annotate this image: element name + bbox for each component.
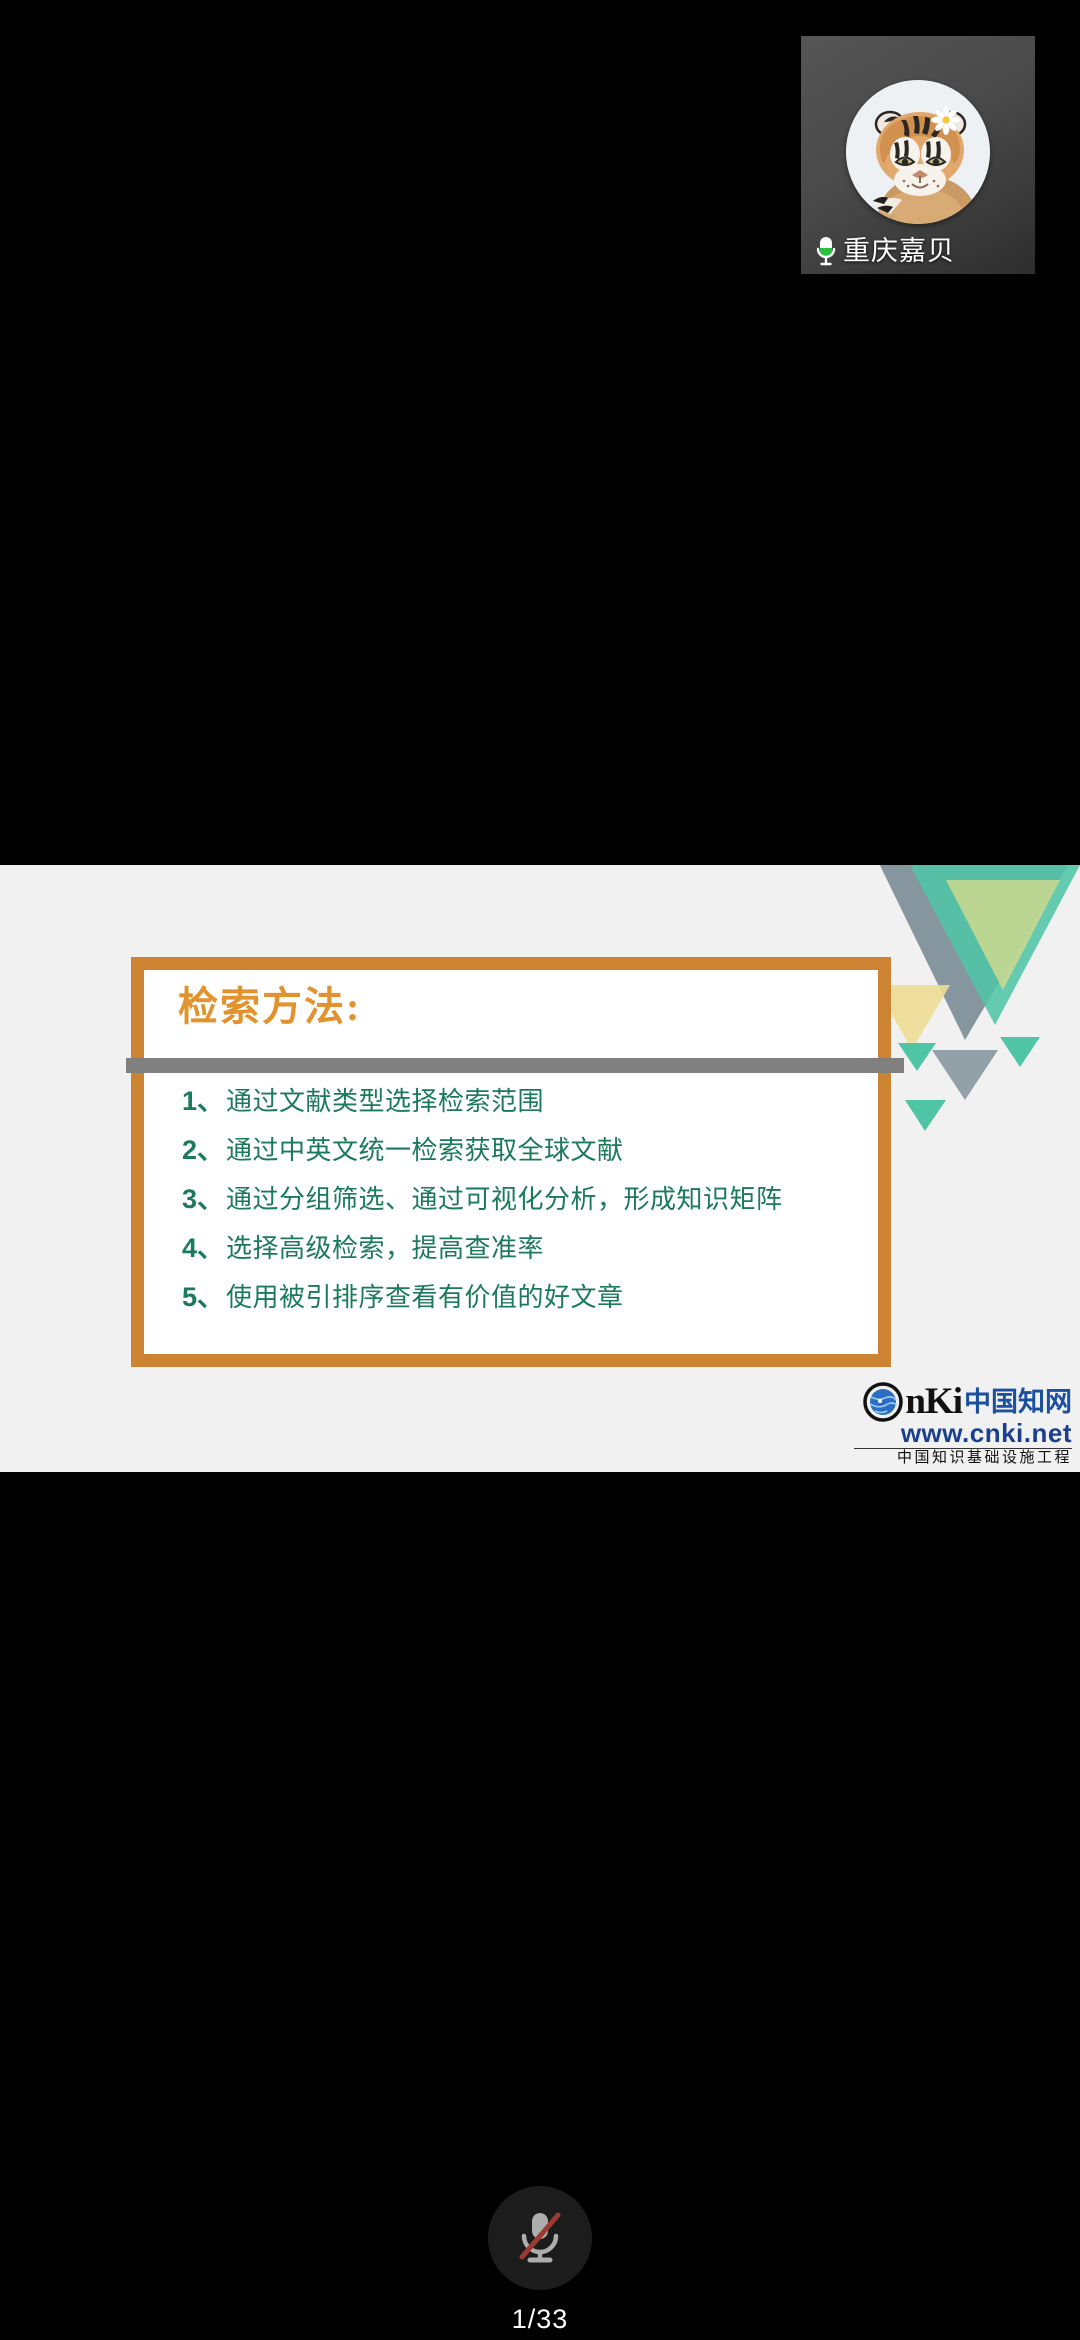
- bullet-number: 2、: [182, 1137, 224, 1164]
- list-item: 4、 选择高级检索，提高查准率: [182, 1235, 878, 1262]
- participant-label: 重庆嘉贝: [801, 236, 1035, 266]
- title-divider: [126, 1058, 904, 1073]
- participant-name: 重庆嘉贝: [843, 236, 955, 266]
- cnki-logo: nKi 中国知网 www.cnki.net 中国知识基础设施工程: [854, 1381, 1072, 1466]
- bullet-number: 5、: [182, 1284, 224, 1311]
- microphone-muted-icon: [511, 2209, 569, 2267]
- bullet-number: 3、: [182, 1186, 224, 1213]
- bullet-text: 通过中英文统一检索获取全球文献: [226, 1138, 624, 1164]
- mute-button[interactable]: [488, 2186, 592, 2290]
- page-indicator: 1/33: [0, 2304, 1080, 2335]
- microphone-on-icon: [815, 236, 837, 266]
- list-item: 5、 使用被引排序查看有价值的好文章: [182, 1284, 878, 1311]
- bullet-text: 通过文献类型选择检索范围: [226, 1089, 544, 1115]
- cnki-subtitle: 中国知识基础设施工程: [854, 1448, 1072, 1466]
- slide-content-frame: 检索方法: 1、 通过文献类型选择检索范围 2、 通过中英文统一检索获取全球文献…: [131, 957, 891, 1367]
- bullet-number: 1、: [182, 1088, 224, 1115]
- cnki-url: www.cnki.net: [854, 1420, 1072, 1446]
- slide-title: 检索方法:: [144, 970, 878, 1040]
- meeting-screen: 重庆嘉贝: [0, 0, 1080, 2340]
- bullet-text: 使用被引排序查看有价值的好文章: [226, 1285, 624, 1311]
- list-item: 2、 通过中英文统一检索获取全球文献: [182, 1137, 878, 1164]
- bullet-list: 1、 通过文献类型选择检索范围 2、 通过中英文统一检索获取全球文献 3、 通过…: [144, 1040, 878, 1311]
- participant-video-tile[interactable]: 重庆嘉贝: [801, 36, 1035, 274]
- list-item: 1、 通过文献类型选择检索范围: [182, 1088, 878, 1115]
- bullet-text: 选择高级检索，提高查准率: [226, 1236, 544, 1262]
- cnki-chinese-name: 中国知网: [964, 1382, 1072, 1422]
- list-item: 3、 通过分组筛选、通过可视化分析，形成知识矩阵: [182, 1186, 878, 1213]
- bullet-number: 4、: [182, 1235, 224, 1262]
- cnki-wordmark: nKi: [905, 1382, 962, 1422]
- tiger-avatar: [846, 80, 990, 224]
- bullet-text: 通过分组筛选、通过可视化分析，形成知识矩阵: [226, 1187, 783, 1213]
- globe-icon: [863, 1382, 903, 1422]
